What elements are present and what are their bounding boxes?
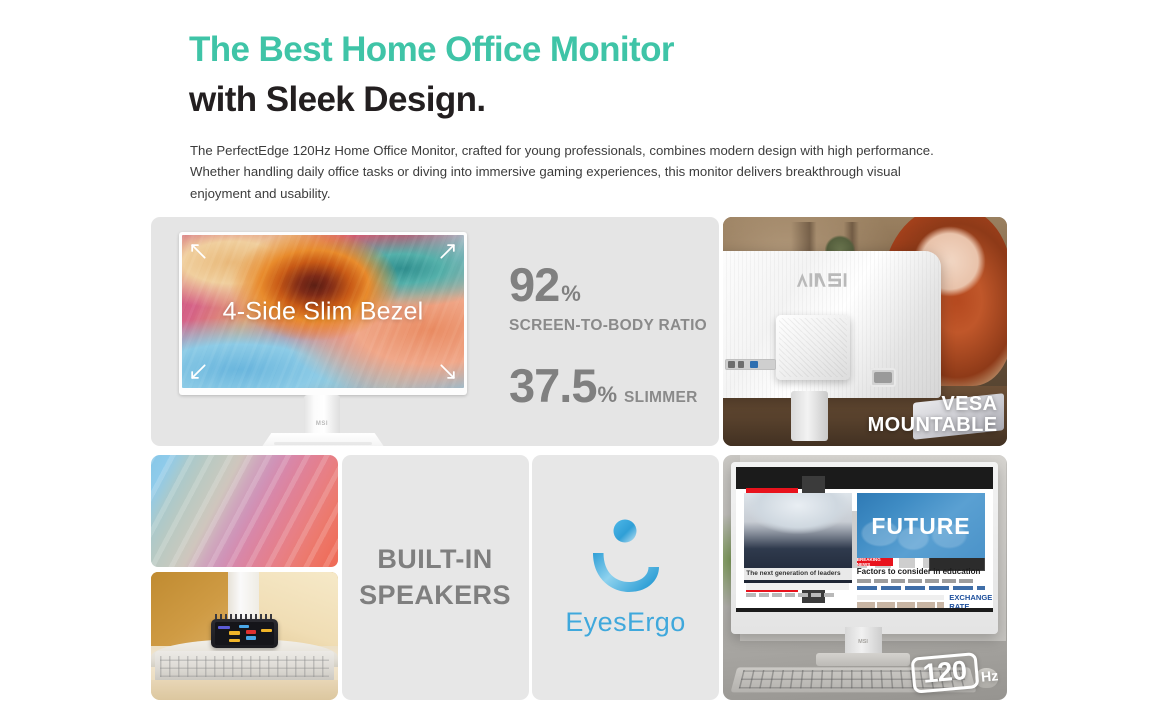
news-hero-word: FUTURE	[857, 513, 985, 540]
headline-line-1: The Best Home Office Monitor	[189, 28, 989, 73]
photo-color-waves	[151, 455, 338, 567]
arrow-top-left-icon	[188, 241, 208, 261]
news-hero-headline: Factors to consider in education	[857, 567, 985, 576]
monitor-illustration: 4-Side Slim Bezel MSI	[179, 224, 479, 439]
stat-unit-percent: %	[561, 281, 581, 307]
news-tech-row	[857, 595, 944, 601]
feature-grid: 4-Side Slim Bezel MSI 92 % SCREEN-TO-BOD…	[151, 217, 1008, 700]
ui-tile	[229, 631, 240, 635]
product-feature-page: The Best Home Office Monitor with Sleek …	[0, 0, 1158, 719]
stat-value-92: 92	[509, 261, 559, 308]
ui-tile	[246, 636, 257, 640]
photo-desk-speaker	[151, 572, 338, 700]
vesa-label-line1: VESA	[868, 394, 998, 416]
photo-speaker-device	[211, 619, 278, 647]
arrow-bottom-right-icon	[438, 362, 458, 382]
stat-slimmer: 37.5 % SLIMMER	[509, 362, 707, 409]
monitor-base	[255, 433, 391, 446]
vesa-label-line2: MOUNTABLE	[868, 415, 998, 437]
port-vga	[750, 361, 758, 368]
stat-screen-to-body: 92 %	[509, 261, 707, 308]
news-photo-caption: The next generation of leaders	[746, 570, 849, 577]
news-site-navbar	[736, 467, 993, 489]
eyesergo-person-icon	[565, 518, 685, 596]
msi-logo-icon	[796, 270, 850, 290]
monitor-frame: 4-Side Slim Bezel	[179, 232, 467, 395]
news-breaking-badge-text: BREAKING NEWS	[857, 558, 893, 565]
vesa-port-cluster	[725, 359, 776, 370]
news-screen: NEWS The next generation of leaders FUTU…	[736, 467, 993, 612]
panel-120hz-news: NEWS The next generation of leaders FUTU…	[723, 455, 1007, 700]
arrow-top-right-icon	[438, 241, 458, 261]
panel-slim-bezel: 4-Side Slim Bezel MSI 92 % SCREEN-TO-BOD…	[151, 217, 719, 446]
news-monitor-neck: MSI	[845, 627, 882, 656]
panel-eyesergo: EyesErgo	[532, 455, 719, 700]
ui-tile	[239, 625, 250, 629]
monitor-screen: 4-Side Slim Bezel	[182, 235, 464, 388]
news-footer-bar	[736, 608, 993, 612]
bezel-stats: 92 % SCREEN-TO-BODY RATIO 37.5 % SLIMMER	[509, 255, 707, 409]
port-dp	[738, 361, 744, 367]
intro-paragraph: The PerfectEdge 120Hz Home Office Monito…	[190, 140, 950, 204]
monitor-neck: MSI	[304, 395, 340, 439]
page-title: The Best Home Office Monitor with Sleek …	[189, 28, 989, 122]
news-breaking-badge: BREAKING NEWS	[857, 558, 893, 565]
eyesergo-wordmark: EyesErgo	[565, 607, 685, 638]
speakers-label-line1: BUILT-IN	[359, 542, 511, 578]
panel-photo-stack	[151, 455, 338, 700]
ui-tile	[229, 639, 240, 643]
news-hero-subhead	[857, 579, 975, 583]
panel-vesa-mountable: VESA MOUNTABLE	[723, 217, 1007, 446]
photo-keyboard	[155, 651, 335, 682]
refresh-rate-value: 120	[910, 652, 978, 694]
news-hero-links[interactable]	[857, 586, 985, 590]
headline-line-2: with Sleek Design.	[189, 77, 989, 123]
port-hdmi	[728, 361, 734, 367]
panel-built-in-speakers: BUILT-IN SPEAKERS	[342, 455, 529, 700]
refresh-rate-badge: 120 Hz	[910, 650, 999, 693]
stat-caption-screen-to-body: SCREEN-TO-BODY RATIO	[509, 317, 707, 335]
speakers-label: BUILT-IN SPEAKERS	[359, 542, 511, 613]
news-hero-image: FUTURE	[857, 493, 985, 558]
bezel-screen-label: 4-Side Slim Bezel	[182, 297, 464, 326]
ui-tile	[261, 629, 272, 633]
msi-logo-stand: MSI	[304, 421, 340, 427]
news-photo-subtext	[746, 593, 833, 597]
arrow-bottom-left-icon	[188, 362, 208, 382]
ui-tile	[218, 626, 230, 629]
vesa-mount-hole	[870, 368, 896, 387]
news-photo-meta	[746, 583, 849, 590]
vesa-label: VESA MOUNTABLE	[868, 394, 998, 437]
news-monitor: NEWS The next generation of leaders FUTU…	[731, 462, 998, 634]
news-exchange-line1: EXCHANGE	[949, 593, 992, 602]
ui-tile	[246, 630, 257, 634]
msi-logo-news-stand: MSI	[845, 639, 882, 645]
vesa-mini-pc	[776, 315, 850, 379]
vesa-stand	[791, 391, 828, 441]
news-monitor-base	[816, 653, 910, 665]
photo-stack	[151, 455, 338, 700]
refresh-rate-unit: Hz	[980, 667, 999, 687]
stat-value-375: 37.5	[509, 362, 596, 409]
photo-table-front	[151, 680, 338, 700]
stat-unit-percent-2: %	[597, 382, 617, 408]
speaker-display	[215, 622, 274, 644]
eyesergo-logo-block: EyesErgo	[565, 518, 685, 638]
speakers-label-line2: SPEAKERS	[359, 578, 511, 614]
stat-caption-slimmer: SLIMMER	[624, 389, 698, 407]
